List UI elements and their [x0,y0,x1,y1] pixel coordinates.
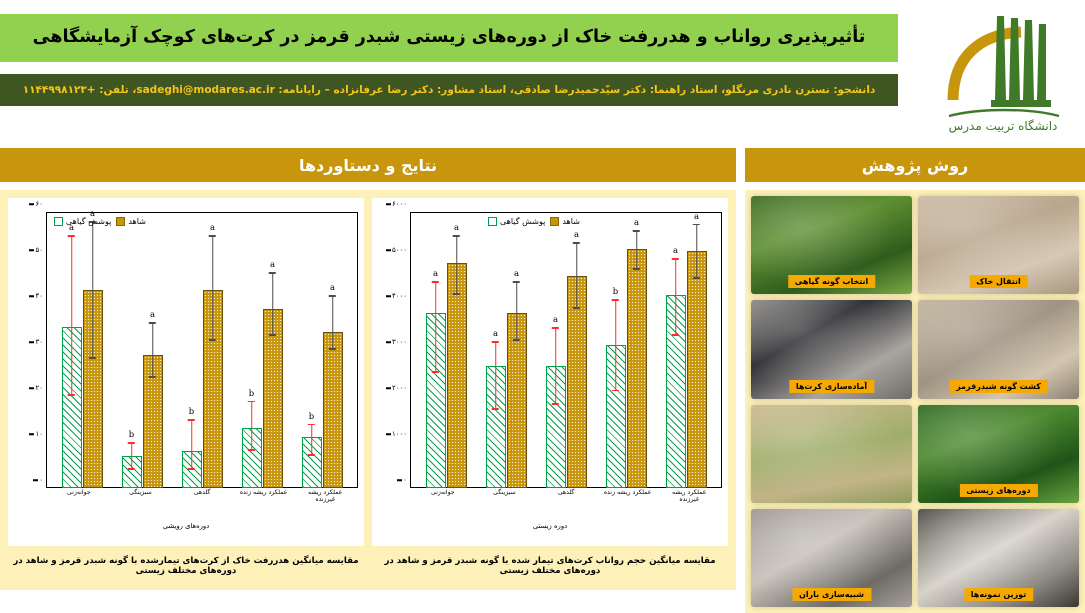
plot-area-soil-loss: میانگین هدررفت خاک (گرم)۰۱۰۲۰۳۰۴۰۵۰۶۰شاه… [8,198,364,546]
method-section-header: روش پژوهش [745,148,1085,182]
y-tick-label: ۶۰۰۰ [392,200,407,208]
bar-group: aa [661,212,712,488]
legend-swatch-green [54,217,63,226]
photo-caption: توزین نمونه‌ها [964,588,1033,601]
x-tick-label: گلدهی [176,490,228,516]
significance-letter: b [309,412,314,422]
red-clover-planting-photo: کشت گونه شبدرقرمز [918,300,1079,398]
significance-letter: b [129,430,134,440]
x-tick-label: عملکرد ریشه غیرزنده [663,490,715,516]
x-tick-label: سبزینگی [478,490,530,516]
y-tick-label: ۵۰۰۰ [392,246,407,254]
university-logo: دانشگاه تربیت مدرس [925,4,1075,136]
chart-caption: مقایسه میانگین هدررفت خاک از کرت‌های تیم… [8,556,364,576]
author-contact-text: دانشجو: نسترن نادری مرنگلو، استاد راهنما… [23,84,876,96]
bar-control: a [143,355,163,488]
plot-area-runoff-volume: میانگین حجم رواناب (سانتی‌متر مکعب)۰۱۰۰۰… [372,198,728,546]
error-bar [212,235,214,341]
y-tick-label: ۳۰۰۰ [392,338,407,346]
error-bar [636,230,638,269]
error-bar [152,322,154,377]
chart-legend: شاهدپوشش گیاهی [488,217,580,226]
photo-caption: آماده‌سازی کرت‌ها [789,380,874,393]
seedling-plot-photo [751,405,912,503]
error-bar [92,221,94,359]
bar-group: aa [421,212,472,488]
method-panel: انتقال خاکانتخاب گونه گیاهیکشت گونه شبدر… [745,190,1085,613]
x-tick-label: عملکرد ریشه غیرزنده [299,490,351,516]
error-bar [311,424,313,456]
photo-caption: شبیه‌سازی باران [792,588,871,601]
legend-item: شاهد [550,217,580,226]
y-tick-label: ۴۰۰۰ [392,292,407,300]
y-tick-label: ۳۰ [35,338,43,346]
significance-letter: a [330,283,335,293]
photo-caption: کشت گونه شبدرقرمز [949,380,1048,393]
method-section-label: روش پژوهش [862,156,968,175]
bar-vegetation: b [606,345,626,488]
poster-title-bar: تأثیرپذیری رواناب و هدررفت خاک از دوره‌ه… [0,14,898,62]
bar-control: a [507,313,527,488]
y-axis-ticks: ۰۱۰۲۰۳۰۴۰۵۰۶۰ [8,212,46,488]
bar-vegetation: a [546,366,566,488]
legend-swatch-gold [116,217,125,226]
x-axis-title: دوره زیستی [372,522,728,530]
error-bar [272,272,274,336]
legend-item: شاهد [116,217,146,226]
bar-body [323,332,343,488]
bar-vegetation: a [486,366,506,488]
photo-caption: دوره‌های زیستی [959,484,1037,497]
bar-control: a [203,290,223,488]
legend-item: پوشش گیاهی [54,217,111,226]
bar-group: ba [177,212,228,488]
bar-group: aa [57,212,108,488]
results-section-header: نتایج و دستاوردها [0,148,736,182]
error-bar [615,299,617,391]
significance-letter: b [189,407,194,417]
significance-letter: a [574,230,579,240]
significance-letter: a [634,218,639,228]
bar-groups: aababababa [46,212,358,488]
error-bar [516,281,518,341]
y-tick-label: ۲۰۰۰ [392,384,407,392]
photo-caption: انتخاب گونه گیاهی [788,275,875,288]
bar-body [627,249,647,488]
plot-inner: شاهدپوشش گیاهیaaaaaabaaa [410,212,722,488]
x-tick-label: سبزینگی [114,490,166,516]
soil-transfer-photo: انتقال خاک [918,196,1079,294]
x-tick-label: جوانه‌زنی [53,490,105,516]
bar-group: aa [541,212,592,488]
bar-group: ba [117,212,168,488]
x-tick-label: جوانه‌زنی [417,490,469,516]
results-section-label: نتایج و دستاوردها [299,156,437,175]
bar-group: aa [481,212,532,488]
significance-letter: b [249,389,254,399]
legend-label: شاهد [128,217,146,226]
y-axis-ticks: ۰۱۰۰۰۲۰۰۰۳۰۰۰۴۰۰۰۵۰۰۰۶۰۰۰ [372,212,410,488]
svg-text:دانشگاه تربیت مدرس: دانشگاه تربیت مدرس [949,119,1058,134]
y-tick-label: ۲۰ [35,384,43,392]
significance-letter: a [514,269,519,279]
bar-body [687,251,707,488]
y-tick-label: ۱۰ [35,430,43,438]
sample-weighing-photo: توزین نمونه‌ها [918,509,1079,607]
x-tick-label: گلدهی [540,490,592,516]
rainfall-simulation-photo: شبیه‌سازی باران [751,509,912,607]
plot-preparation-photo: آماده‌سازی کرت‌ها [751,300,912,398]
x-tick-label: عملکرد ریشه زنده [237,490,289,516]
bar-control: a [83,290,103,488]
significance-letter: a [694,212,699,222]
bar-vegetation: b [302,437,322,488]
growth-stages-photo: دوره‌های زیستی [918,405,1079,503]
bar-vegetation: a [426,313,446,488]
error-bar [495,341,497,410]
bar-vegetation: b [182,451,202,488]
y-tick-label: ۰ [39,476,43,484]
author-contact-bar: دانشجو: نسترن نادری مرنگلو، استاد راهنما… [0,74,898,106]
legend-swatch-green [488,217,497,226]
bar-control: a [323,332,343,488]
significance-letter: b [613,287,618,297]
significance-letter: a [210,223,215,233]
significance-letter: a [493,329,498,339]
error-bar [191,419,193,470]
chart-legend: شاهدپوشش گیاهی [54,217,146,226]
bar-control: a [627,249,647,488]
bar-control: a [567,276,587,488]
bar-body [447,263,467,488]
significance-letter: a [150,310,155,320]
y-tick-label: ۵۰ [35,246,43,254]
legend-item: پوشش گیاهی [488,217,545,226]
y-tick-label: ۱۰۰۰ [392,430,407,438]
bar-vegetation: b [242,428,262,488]
bar-control: a [447,263,467,488]
x-axis-labels: جوانه‌زنیسبزینگیگلدهیعملکرد ریشه زندهعمل… [410,490,722,516]
error-bar [576,242,578,309]
bar-group: ba [237,212,288,488]
bar-groups: aaaaaabaaa [410,212,722,488]
bar-vegetation: a [62,327,82,488]
error-bar [131,442,133,470]
poster-header: تأثیرپذیری رواناب و هدررفت خاک از دوره‌ه… [0,0,1085,140]
error-bar [332,295,334,350]
legend-label: شاهد [562,217,580,226]
significance-letter: a [673,246,678,256]
significance-letter: a [553,315,558,325]
error-bar [675,258,677,336]
x-axis-labels: جوانه‌زنیسبزینگیگلدهیعملکرد ریشه زندهعمل… [46,490,358,516]
significance-letter: a [270,260,275,270]
error-bar [435,281,437,373]
error-bar [555,327,557,405]
plant-species-photo: انتخاب گونه گیاهی [751,196,912,294]
significance-letter: a [454,223,459,233]
photo-caption: انتقال خاک [969,275,1027,288]
bar-group: ba [297,212,348,488]
legend-label: پوشش گیاهی [500,217,545,226]
y-tick-label: ۶۰ [35,200,43,208]
y-tick-label: ۴۰ [35,292,43,300]
error-bar [71,235,73,396]
legend-label: پوشش گیاهی [66,217,111,226]
x-axis-title: دوره‌های رویشی [8,522,364,530]
chart-runoff-volume: میانگین حجم رواناب (سانتی‌متر مکعب)۰۱۰۰۰… [372,198,728,582]
error-bar [251,401,253,452]
chart-soil-loss: میانگین هدررفت خاک (گرم)۰۱۰۲۰۳۰۴۰۵۰۶۰شاه… [8,198,364,582]
x-tick-label: عملکرد ریشه زنده [601,490,653,516]
photo-grid: انتقال خاکانتخاب گونه گیاهیکشت گونه شبدر… [751,196,1079,607]
plot-inner: شاهدپوشش گیاهیaababababa [46,212,358,488]
bar-vegetation: b [122,456,142,488]
bar-group: ba [601,212,652,488]
page-title: تأثیرپذیری رواناب و هدررفت خاک از دوره‌ه… [33,28,866,47]
legend-swatch-gold [550,217,559,226]
charts-row: میانگین هدررفت خاک (گرم)۰۱۰۲۰۳۰۴۰۵۰۶۰شاه… [8,198,728,582]
y-tick-label: ۰ [403,476,407,484]
significance-letter: a [433,269,438,279]
results-panel: میانگین هدررفت خاک (گرم)۰۱۰۲۰۳۰۴۰۵۰۶۰شاه… [0,190,736,590]
error-bar [696,224,698,279]
error-bar [456,235,458,295]
bar-vegetation: a [666,295,686,488]
bar-control: a [263,309,283,488]
chart-caption: مقایسه میانگین حجم رواناب کرت‌های تیمار … [372,556,728,576]
bar-control: a [687,251,707,488]
